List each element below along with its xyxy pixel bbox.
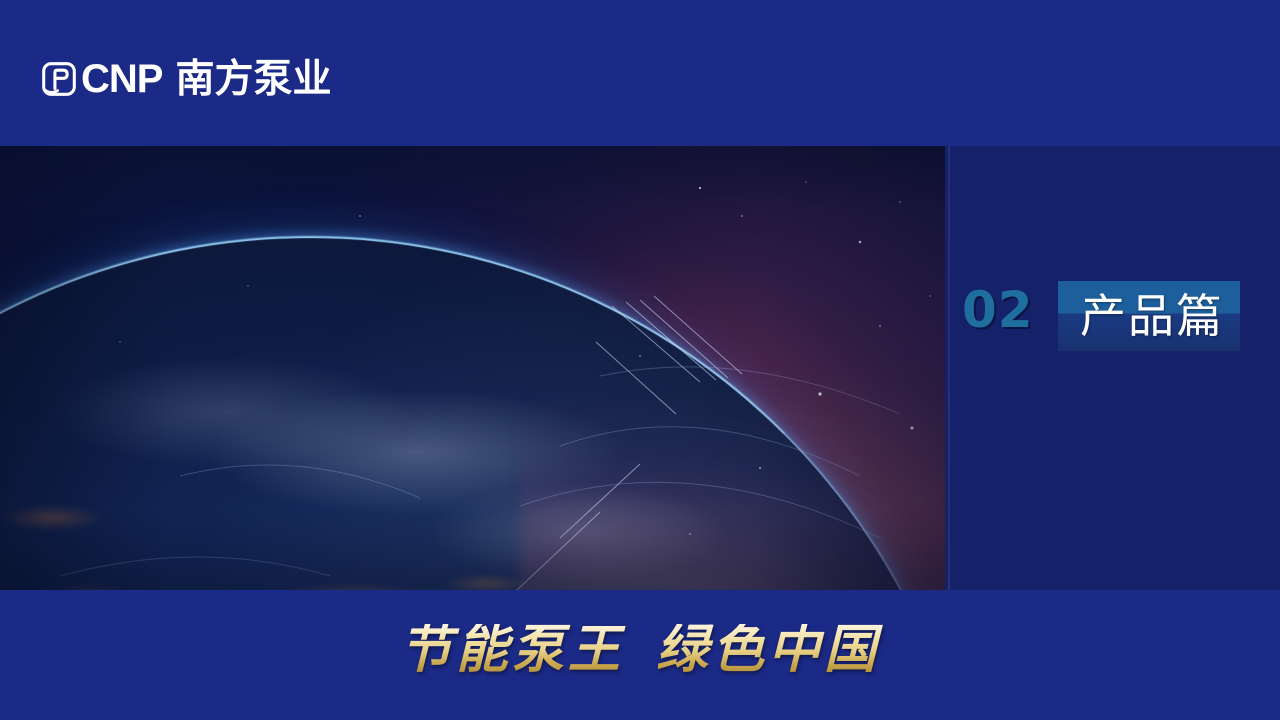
section-panel: 02 产品篇 (950, 146, 1280, 590)
presentation-slide: CNP 南方泵业 (0, 0, 1280, 720)
logo-latin-text: CNP (81, 59, 162, 99)
section-number: 02 (962, 285, 1034, 335)
cnp-logo-mark-icon (42, 62, 76, 96)
section-title: 产品篇 (1062, 280, 1242, 352)
slogan-part-2: 绿色中国 (656, 619, 880, 680)
slogan-part-1: 节能泵王 (400, 619, 624, 680)
company-logo: CNP 南方泵业 (42, 55, 331, 103)
logo-wordmark: CNP 南方泵业 (81, 59, 331, 99)
company-slogan: 节能泵王 绿色中国 (0, 624, 1280, 676)
logo-chinese-text: 南方泵业 (175, 60, 331, 99)
earth-globe-image (0, 146, 945, 590)
slide-header: CNP 南方泵业 (0, 0, 1280, 146)
slide-footer: 节能泵王 绿色中国 (0, 590, 1280, 720)
